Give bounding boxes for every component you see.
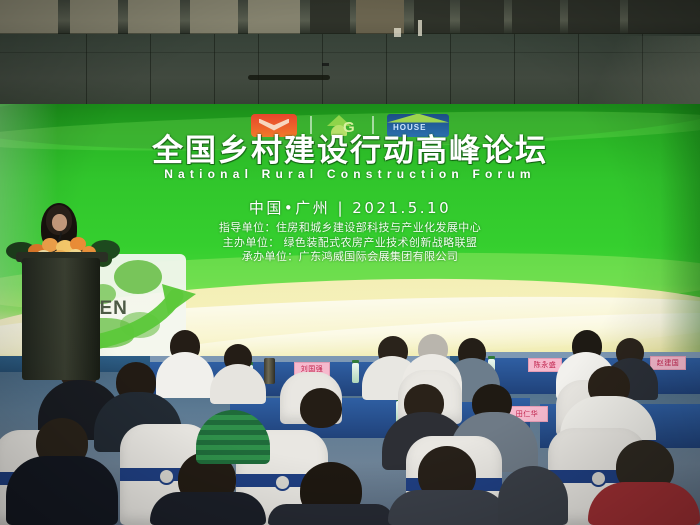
audience-head xyxy=(300,388,342,428)
name-card: 赵建国 xyxy=(650,356,686,370)
chair-buckle xyxy=(590,470,607,487)
audience-body-front xyxy=(388,490,508,525)
name-card: 陈永盛 xyxy=(528,358,562,372)
exhibition-hall-wall xyxy=(0,0,700,112)
audience-body-front xyxy=(6,456,118,525)
audience-body-front xyxy=(588,482,700,525)
water-bottle xyxy=(352,363,359,383)
speaker-podium xyxy=(22,258,100,380)
wall-handle-bar xyxy=(248,75,330,80)
thermos-cup xyxy=(264,358,275,384)
audience-body-front xyxy=(268,504,394,525)
chair-buckle xyxy=(274,474,291,491)
audience-body-front xyxy=(150,492,266,525)
conference-photo-scene: GEEN G HOUSE 全国乡村建设行动高峰论坛 National Rural… xyxy=(0,0,700,525)
location-date-line: 中国•广州 | 2021.5.10 xyxy=(0,197,700,218)
forum-title-english: National Rural Construction Forum xyxy=(0,167,700,181)
forum-title-chinese: 全国乡村建设行动高峰论坛 xyxy=(0,133,700,169)
chair-buckle xyxy=(158,468,175,485)
